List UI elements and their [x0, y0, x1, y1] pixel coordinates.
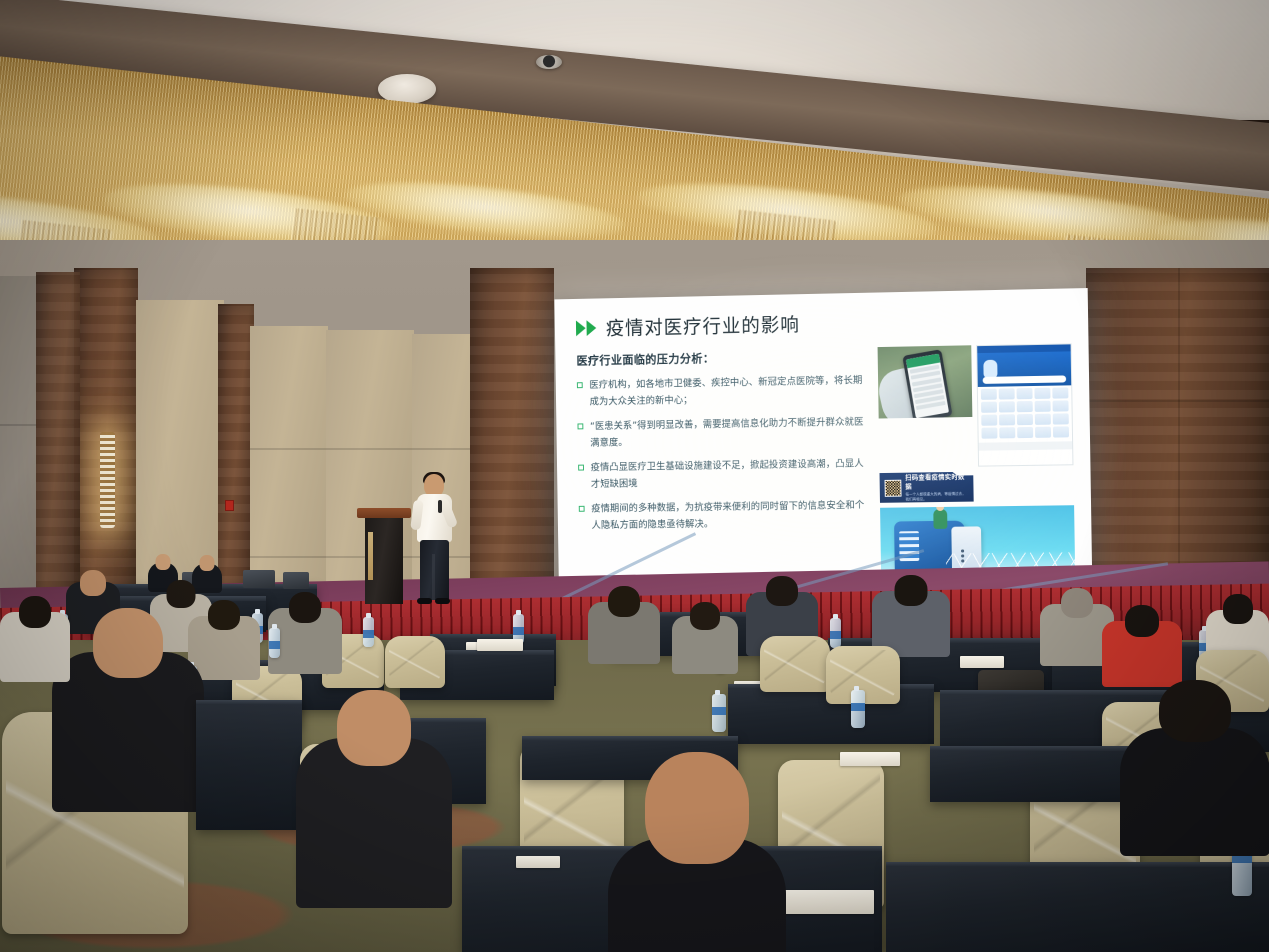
person-head: [19, 596, 51, 628]
app-service-icon: [1035, 401, 1051, 412]
phone-screen: [906, 354, 949, 419]
attendee: [1120, 680, 1269, 850]
app-service-icon: [1017, 414, 1033, 425]
person-head: [690, 602, 720, 630]
laptop-icon: [283, 572, 309, 589]
water-bottle: [712, 694, 726, 732]
person-head: [1223, 594, 1253, 624]
app-service-icon: [981, 427, 997, 438]
qr-banner-text: 扫码查看疫情实时数据 每一个人都很重大的病，等疫情过去，我们再相见。: [905, 472, 969, 502]
app-service-icon: [1035, 427, 1051, 438]
cartoon-worker-figure: [933, 509, 947, 529]
chair: [760, 636, 830, 692]
bullet-square-icon: [578, 465, 584, 471]
app-service-icon: [1053, 426, 1069, 437]
presenter-shoe-right: [435, 598, 450, 604]
microphone-icon: [438, 500, 442, 513]
water-bottle: [830, 618, 841, 648]
chair: [385, 636, 445, 688]
app-service-icon: [999, 414, 1015, 425]
bullet-square-icon: [577, 423, 583, 429]
attendee: [672, 602, 738, 672]
app-service-icon: [999, 401, 1015, 412]
slide-title: 疫情对医疗行业的影响: [606, 310, 800, 341]
conference-photo: 疫情对医疗行业的影响 医疗行业面临的压力分析： 医疗机构，如各地市卫健委、疾控中…: [0, 0, 1269, 952]
double-triangle-icon: [576, 320, 596, 336]
app-service-icon: [1035, 414, 1051, 425]
laptop-icon: [243, 570, 275, 588]
app-service-icon: [981, 402, 997, 413]
person-head: [645, 752, 749, 864]
person-head: [337, 690, 411, 766]
person-head: [766, 576, 798, 606]
slide-image-row: [878, 343, 1074, 468]
slide-bullet: 医疗机构，如各地市卫健委、疾控中心、新冠定点医院等，将长期成为大众关注的新中心；: [577, 373, 869, 411]
person-head: [608, 586, 640, 617]
person-head: [1061, 588, 1093, 618]
attendee: [1102, 605, 1182, 685]
slide-bullet-text: “医患关系”得到明显改善，需要提高信息化助力不断提升群众就医满意度。: [590, 415, 869, 452]
qr-code-icon: [885, 479, 902, 496]
slide-title-row: 疫情对医疗行业的影响: [576, 304, 1075, 341]
app-icon-grid: [978, 385, 1072, 440]
photo-hand-holding-phone: [878, 345, 973, 418]
notepad: [477, 639, 523, 651]
app-service-icon: [981, 389, 997, 400]
slide-bullet-text: 疫情凸显医疗卫生基础设施建设不足，掀起投资建设高潮，凸显人才短缺困境: [591, 456, 870, 493]
presenter-shoe-left: [417, 598, 432, 604]
table-top-edge: [196, 700, 302, 705]
attendee: [0, 596, 70, 680]
wood-column-right: [470, 268, 554, 616]
app-service-icon: [1053, 400, 1069, 411]
qr-banner-subtitle: 每一个人都很重大的病，等疫情过去，我们再相见。: [905, 491, 968, 502]
wall-seam: [1178, 268, 1180, 606]
presenter-legs: [420, 540, 449, 600]
attendee: [52, 608, 204, 808]
app-screenshot: [976, 343, 1073, 466]
water-bottle: [851, 690, 865, 728]
person-head: [200, 555, 215, 571]
projection-screen: 疫情对医疗行业的影响 医疗行业面临的压力分析： 医疗机构，如各地市卫健委、疾控中…: [554, 288, 1092, 593]
slide-bullet: 疫情期间的多种数据，为抗疫带来便利的同时留下的信息安全和个人隐私方面的隐患亟待解…: [579, 498, 871, 534]
app-service-icon: [1034, 388, 1050, 399]
notepad: [960, 656, 1004, 668]
person-head: [1159, 680, 1231, 742]
attendee: [588, 586, 660, 662]
person-head: [93, 608, 163, 678]
downlight-icon: [536, 55, 562, 69]
table-top-edge: [886, 862, 1269, 867]
audience-table: [886, 862, 1269, 952]
podium: [362, 508, 406, 604]
app-service-icon: [1017, 388, 1033, 399]
slide-bullet: 疫情凸显医疗卫生基础设施建设不足，掀起投资建设高潮，凸显人才短缺困境: [578, 456, 870, 493]
app-footer-bar: [979, 441, 1073, 450]
podium-top: [357, 508, 411, 518]
wall-sconce-light: [100, 432, 115, 528]
slide-bullet-text: 疫情期间的多种数据，为抗疫带来便利的同时留下的信息安全和个人隐私方面的隐患亟待解…: [591, 498, 870, 534]
notepad: [516, 856, 560, 868]
app-mascot-icon: [983, 360, 997, 378]
exit-sign-icon: [225, 500, 234, 511]
presenter: [412, 474, 458, 608]
slide-bullet: “医患关系”得到明显改善，需要提高信息化助力不断提升群众就医满意度。: [577, 415, 869, 452]
table-top-edge: [930, 746, 1140, 751]
bullet-square-icon: [577, 382, 583, 388]
app-service-icon: [1053, 413, 1069, 424]
person-body: [1120, 728, 1269, 856]
attendee: [608, 752, 786, 952]
slide-text-column: 医疗行业面临的压力分析： 医疗机构，如各地市卫健委、疾控中心、新冠定点医院等，将…: [576, 347, 871, 593]
person-head: [80, 570, 106, 596]
app-service-icon: [981, 415, 997, 426]
slide-bullet-text: 医疗机构，如各地市卫健委、疾控中心、新冠定点医院等，将长期成为大众关注的新中心；: [589, 373, 868, 410]
podium-light-strip: [368, 532, 373, 580]
app-search-pill: [983, 375, 1067, 383]
wall-seam: [250, 448, 502, 450]
qr-banner-title: 扫码查看疫情实时数据: [905, 472, 968, 491]
app-service-icon: [1052, 387, 1068, 398]
person-head: [895, 575, 928, 606]
person-head: [156, 554, 171, 570]
attendee: [296, 690, 452, 900]
table-top-edge: [522, 736, 738, 741]
person-head: [1125, 605, 1159, 637]
person-head: [289, 592, 321, 623]
slide-content: 疫情对医疗行业的影响 医疗行业面临的压力分析： 医疗机构，如各地市卫健委、疾控中…: [554, 288, 1092, 593]
attendee: [872, 575, 950, 655]
app-service-icon: [1017, 401, 1033, 412]
audience-table: [196, 700, 302, 830]
water-bottle: [269, 628, 280, 658]
notepad: [840, 752, 900, 766]
wood-column-left-2: [36, 272, 80, 608]
audience-table: [930, 746, 1140, 802]
slide-lead-text: 医疗行业面临的压力分析：: [576, 347, 868, 368]
water-bottle: [363, 617, 374, 647]
qr-banner: 扫码查看疫情实时数据 每一个人都很重大的病，等疫情过去，我们再相见。: [880, 472, 974, 503]
bullet-square-icon: [579, 506, 585, 512]
app-hero-banner: [977, 351, 1071, 387]
person-head: [208, 600, 240, 630]
app-service-icon: [999, 427, 1015, 438]
app-service-icon: [1017, 427, 1033, 438]
wood-column-mid: [218, 304, 254, 612]
app-service-icon: [999, 388, 1015, 399]
